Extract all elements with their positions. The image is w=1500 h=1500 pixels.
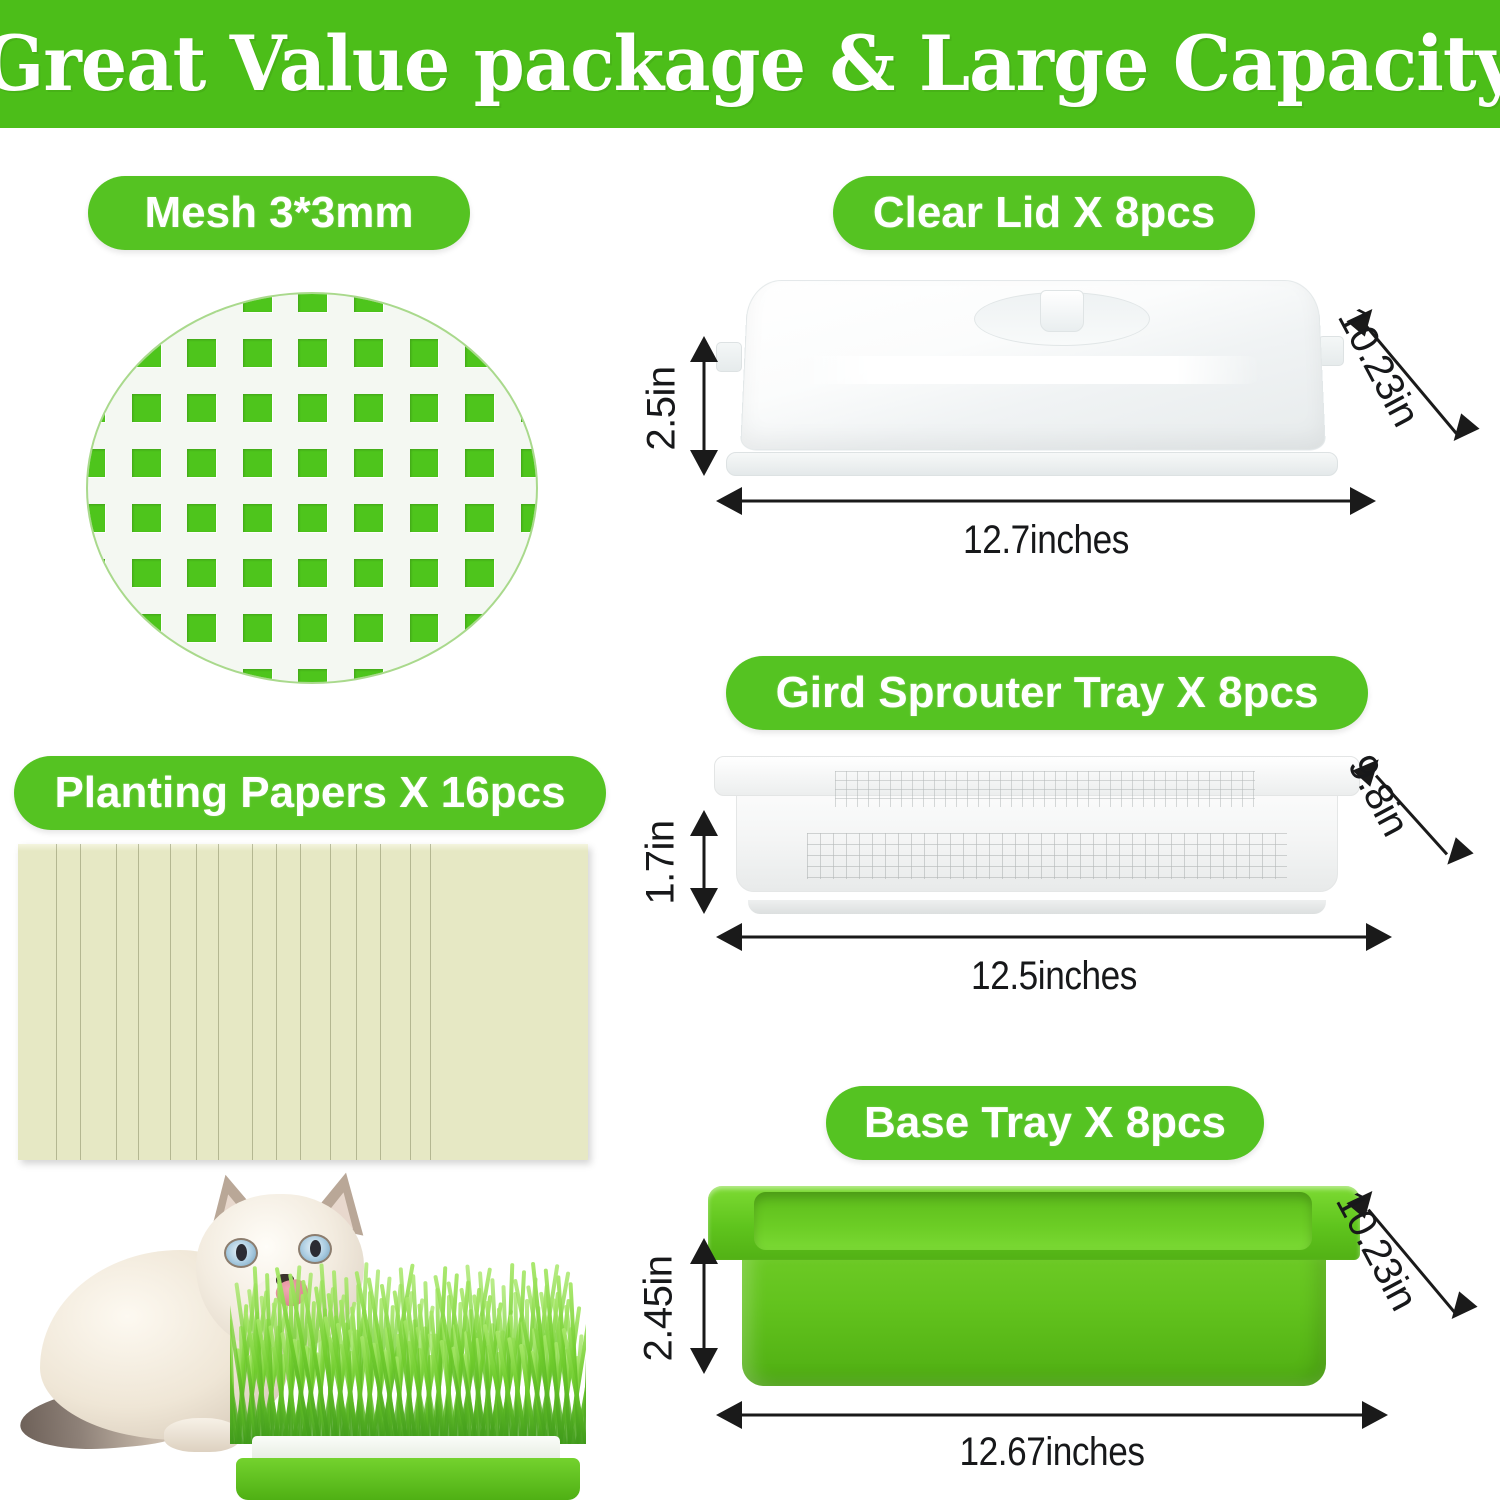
mesh-hole — [397, 292, 453, 329]
mesh-hole — [286, 329, 342, 384]
paper-sheet-edge — [138, 844, 139, 1160]
mesh-hole — [231, 439, 287, 494]
paper-sheet-edge — [300, 844, 301, 1160]
mesh-hole — [397, 329, 453, 384]
arrow-shaft — [736, 1414, 1368, 1417]
mesh-hole — [231, 494, 287, 549]
paper-sheet-edge — [170, 844, 171, 1160]
header-banner: Great Value package & Large Capacity — [0, 0, 1500, 128]
lid-highlight — [792, 356, 1262, 384]
mesh-hole — [453, 292, 509, 329]
mesh-hole — [286, 439, 342, 494]
mesh-hole — [342, 384, 398, 439]
cat-paw — [164, 1418, 240, 1452]
mesh-hole — [231, 604, 287, 659]
mesh-hole — [453, 439, 509, 494]
mesh-hole — [453, 384, 509, 439]
sprouter-tray-rim — [714, 756, 1360, 796]
label-mesh: Mesh 3*3mm — [88, 176, 470, 250]
sprouter-tray-side-mesh — [807, 833, 1287, 879]
arrow-head-right — [1350, 487, 1376, 515]
mesh-hole — [286, 494, 342, 549]
arrow-shaft — [703, 1250, 706, 1362]
mesh-hole — [231, 384, 287, 439]
arrow-head-up — [690, 336, 718, 362]
paper-sheet-edge — [196, 844, 197, 1160]
mesh-hole — [508, 659, 538, 684]
label-mesh-text: Mesh 3*3mm — [144, 188, 413, 238]
mesh-hole — [397, 494, 453, 549]
mesh-hole — [397, 439, 453, 494]
mesh-hole — [231, 549, 287, 604]
mesh-hole — [86, 494, 120, 549]
dimension-sprouter-height-label: 1.7in — [639, 798, 684, 928]
dimension-base-width-arrow — [716, 1398, 1388, 1432]
arrow-head-left — [716, 923, 742, 951]
mesh-hole — [453, 604, 509, 659]
arrow-head-down — [1442, 1291, 1477, 1326]
mesh-hole — [508, 439, 538, 494]
mesh-hole — [120, 494, 176, 549]
base-tray-cavity — [754, 1192, 1312, 1250]
mesh-hole — [120, 439, 176, 494]
mesh-hole — [342, 494, 398, 549]
arrow-head-up — [690, 1238, 718, 1264]
arrow-head-left — [716, 487, 742, 515]
mesh-hole — [86, 659, 120, 684]
mesh-hole — [175, 659, 231, 684]
mesh-closeup-icon — [86, 292, 538, 684]
arrow-head-left — [716, 1401, 742, 1429]
mesh-hole — [286, 292, 342, 329]
arrow-shaft — [736, 500, 1356, 503]
clear-lid-icon — [706, 278, 1354, 482]
paper-sheet-edge — [80, 844, 81, 1160]
mesh-hole — [397, 549, 453, 604]
cat-eating-wheatgrass-photo — [18, 1172, 604, 1500]
arrow-shaft — [736, 936, 1372, 939]
dimension-lid-width-label: 12.7inches — [756, 518, 1337, 563]
mesh-hole — [175, 439, 231, 494]
label-planting-papers: Planting Papers X 16pcs — [14, 756, 606, 830]
mesh-hole — [231, 292, 287, 329]
mesh-hole — [175, 329, 231, 384]
dimension-base-height-label: 2.45in — [637, 1230, 682, 1388]
base-tray-rim — [708, 1186, 1360, 1260]
paper-top-edge — [18, 844, 588, 851]
mesh-hole — [397, 604, 453, 659]
arrow-head-down — [690, 450, 718, 476]
mesh-hole — [342, 329, 398, 384]
base-tray-wall — [742, 1248, 1326, 1386]
mesh-grid — [86, 292, 538, 684]
mesh-hole — [231, 329, 287, 384]
mesh-hole — [175, 494, 231, 549]
mesh-hole — [342, 604, 398, 659]
mesh-hole — [120, 549, 176, 604]
page-title: Great Value package & Large Capacity — [0, 26, 1500, 102]
mesh-hole — [86, 604, 120, 659]
dimension-sprouter-height-arrow — [676, 810, 732, 914]
mesh-hole — [120, 659, 176, 684]
mesh-hole — [508, 384, 538, 439]
arrow-head-up — [690, 810, 718, 836]
mesh-hole — [397, 659, 453, 684]
dimension-base-height-arrow — [676, 1238, 732, 1374]
mesh-hole — [453, 329, 509, 384]
wheatgrass-blades — [230, 1254, 586, 1444]
paper-sheet-edge — [218, 844, 219, 1160]
label-base-tray: Base Tray X 8pcs — [826, 1086, 1264, 1160]
photo-base-tray — [236, 1458, 580, 1500]
lid-knob — [1040, 290, 1084, 332]
mesh-hole — [508, 329, 538, 384]
mesh-hole — [342, 292, 398, 329]
mesh-hole — [508, 549, 538, 604]
mesh-hole — [86, 329, 120, 384]
label-planting-papers-text: Planting Papers X 16pcs — [54, 768, 565, 818]
mesh-hole — [508, 604, 538, 659]
dimension-lid-width-arrow — [716, 484, 1376, 518]
wheatgrass-tray — [230, 1238, 586, 1500]
arrow-head-right — [1362, 1401, 1388, 1429]
mesh-hole — [175, 604, 231, 659]
mesh-hole — [342, 659, 398, 684]
mesh-hole — [286, 659, 342, 684]
arrow-head-down — [690, 1348, 718, 1374]
mesh-hole — [86, 384, 120, 439]
label-base-tray-text: Base Tray X 8pcs — [864, 1098, 1226, 1148]
arrow-head-down — [690, 888, 718, 914]
mesh-hole — [175, 384, 231, 439]
sprouter-tray-inner-mesh — [835, 771, 1255, 807]
mesh-hole — [120, 384, 176, 439]
arrow-head-down — [1444, 413, 1479, 448]
mesh-hole — [286, 384, 342, 439]
dimension-lid-height-label: 2.5in — [640, 339, 685, 479]
arrow-shaft — [703, 348, 706, 464]
paper-sheet-edge — [56, 844, 57, 1160]
label-grid-sprouter-tray: Gird Sprouter Tray X 8pcs — [726, 656, 1368, 730]
mesh-hole — [286, 604, 342, 659]
paper-sheet-edge — [330, 844, 331, 1160]
mesh-hole — [342, 439, 398, 494]
arrow-head-right — [1366, 923, 1392, 951]
product-infographic: Great Value package & Large Capacity Mes… — [0, 0, 1500, 1500]
base-tray-icon — [708, 1186, 1360, 1396]
mesh-hole — [453, 549, 509, 604]
arrow-head-down — [1438, 837, 1473, 872]
sprouter-tray-foot — [748, 900, 1326, 914]
mesh-hole — [231, 659, 287, 684]
mesh-hole — [342, 549, 398, 604]
mesh-hole — [453, 494, 509, 549]
dimension-sprouter-width-label: 12.5inches — [757, 954, 1352, 999]
mesh-hole — [397, 384, 453, 439]
grid-sprouter-tray-icon — [714, 756, 1360, 914]
label-clear-lid: Clear Lid X 8pcs — [833, 176, 1255, 250]
mesh-hole — [508, 292, 538, 329]
mesh-hole — [120, 292, 176, 329]
mesh-hole — [286, 549, 342, 604]
dimension-sprouter-width-arrow — [716, 920, 1392, 954]
mesh-hole — [453, 659, 509, 684]
mesh-hole — [86, 292, 120, 329]
label-grid-sprouter-tray-text: Gird Sprouter Tray X 8pcs — [776, 668, 1319, 718]
paper-sheet-edge — [430, 844, 431, 1160]
paper-sheet-edge — [276, 844, 277, 1160]
label-clear-lid-text: Clear Lid X 8pcs — [873, 188, 1215, 238]
paper-sheet-edge — [410, 844, 411, 1160]
mesh-hole — [120, 329, 176, 384]
mesh-hole — [175, 549, 231, 604]
planting-papers-stack-icon — [18, 844, 588, 1160]
dimension-base-width-label: 12.67inches — [756, 1430, 1347, 1475]
mesh-hole — [120, 604, 176, 659]
mesh-hole — [508, 494, 538, 549]
paper-sheet-edge — [356, 844, 357, 1160]
mesh-hole — [175, 292, 231, 329]
paper-sheet-edge — [116, 844, 117, 1160]
paper-sheet-edge — [380, 844, 381, 1160]
paper-sheet-edge — [252, 844, 253, 1160]
lid-flange — [726, 452, 1338, 476]
mesh-hole — [86, 549, 120, 604]
mesh-hole — [86, 439, 120, 494]
